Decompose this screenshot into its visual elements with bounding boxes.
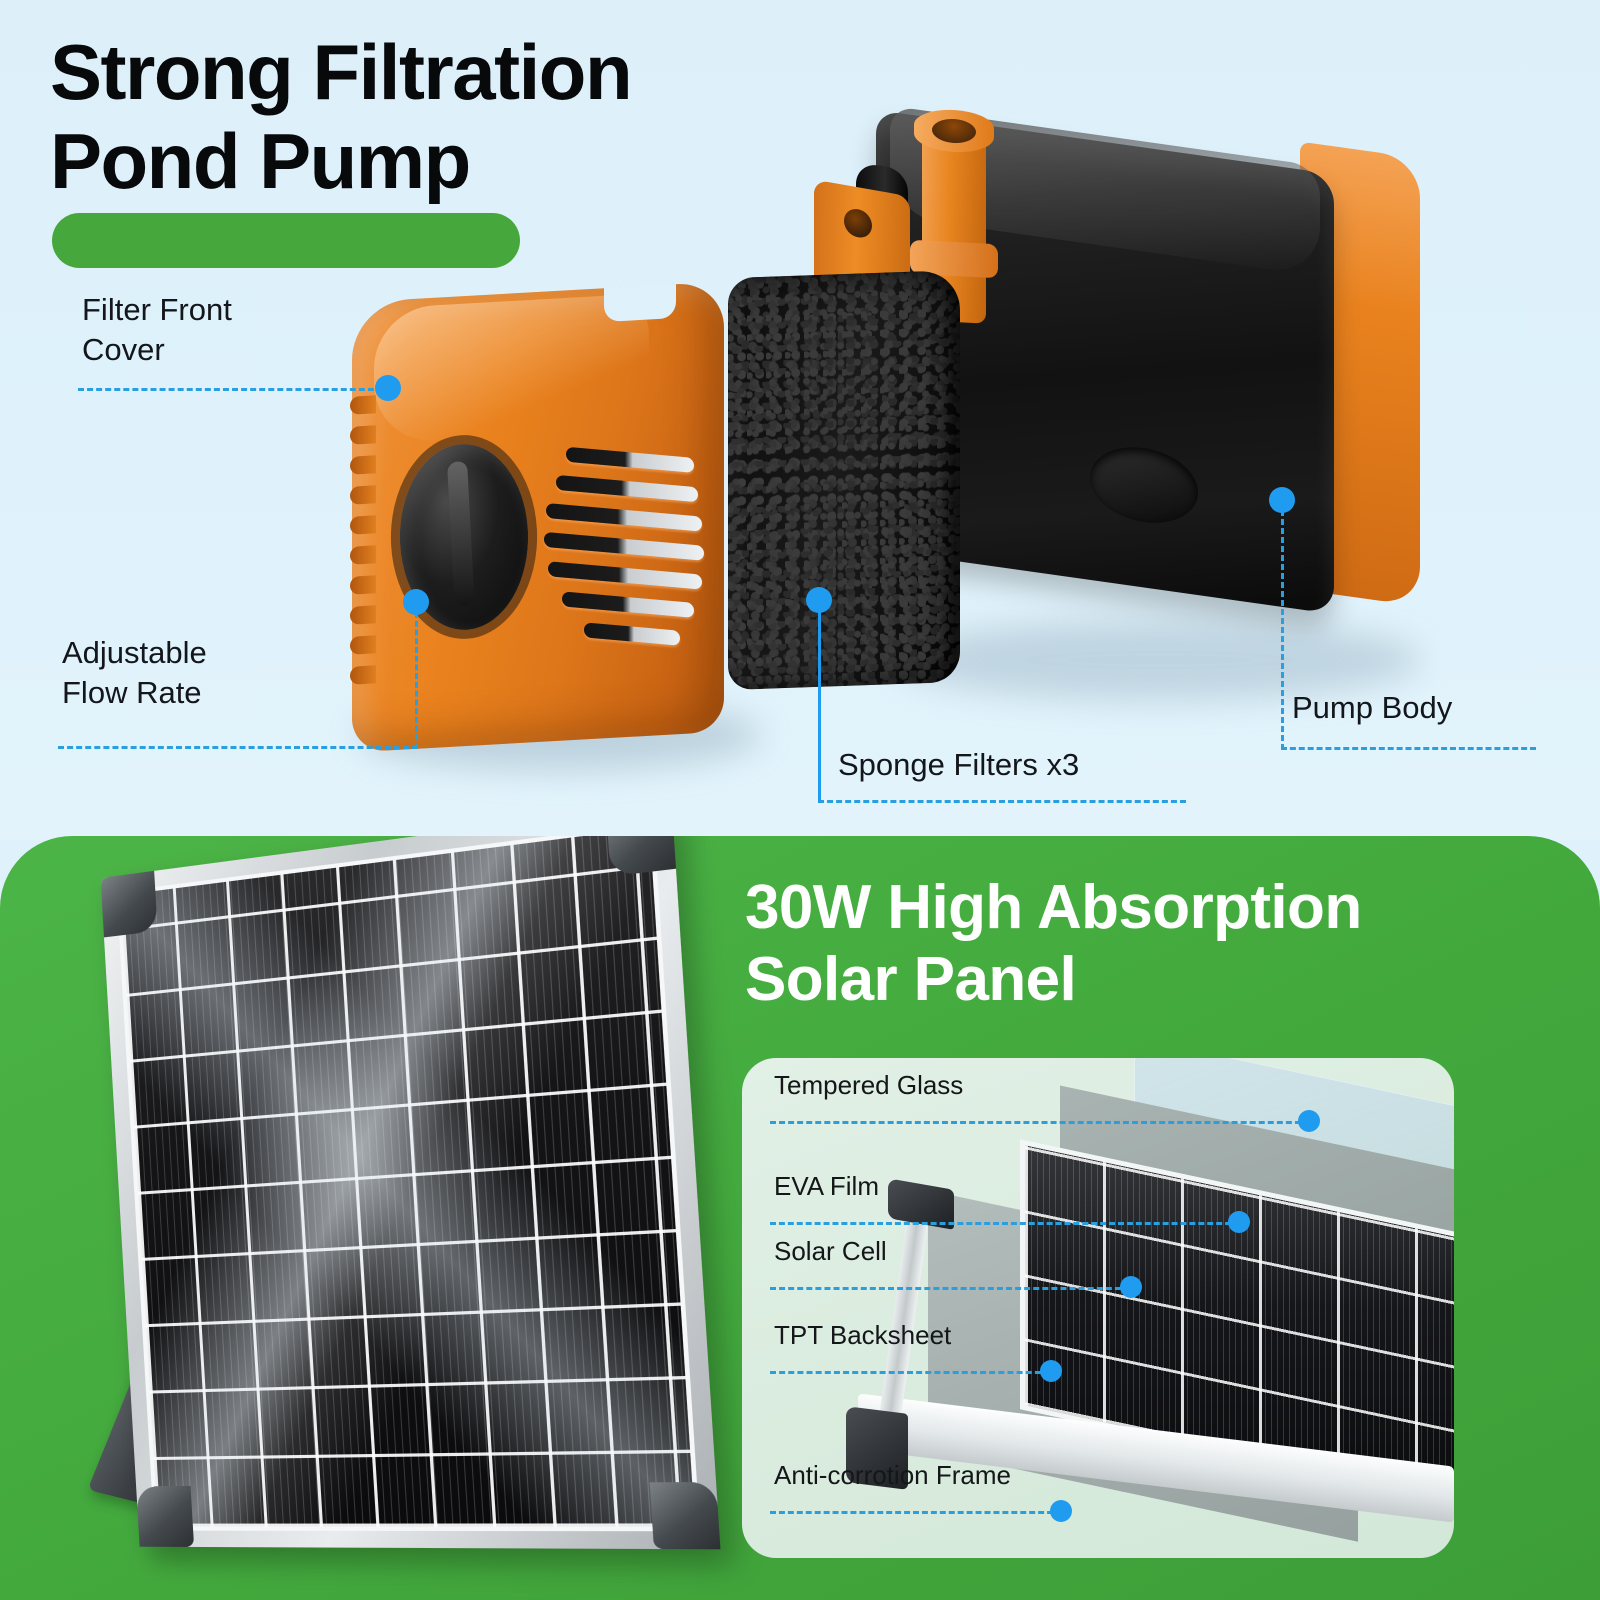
- dial-pointer: [447, 460, 475, 607]
- annotation-pump-body-line1: Pump Body: [1292, 690, 1452, 725]
- layer-label-eva-film: EVA Film: [774, 1171, 879, 1202]
- leader-line-adjustable-flow-rate-vertical: [415, 612, 418, 749]
- annotation-filter-front-cover-line2: Cover: [82, 330, 232, 370]
- annotation-sponge-filters: Sponge Filters x3: [838, 745, 1079, 785]
- leader-line-tempered-glass: [770, 1121, 1310, 1124]
- callout-dot-tempered-glass: [1298, 1110, 1320, 1132]
- solar-panel-glass: [117, 836, 700, 1531]
- callout-dot-sponge-filters: [806, 587, 832, 613]
- solar-panel: [101, 836, 721, 1549]
- panel-corner-bottom-left: [136, 1486, 194, 1547]
- leader-line-pump-body-vertical: [1281, 510, 1284, 750]
- solar-panel-feature-section: 30W High Absorption Solar Panel: [0, 836, 1600, 1600]
- layer-label-tpt-backsheet: TPT Backsheet: [774, 1320, 951, 1351]
- annotation-adjustable-flow-rate-line2: Flow Rate: [62, 673, 207, 713]
- annotation-sponge-filters-line1: Sponge Filters x3: [838, 747, 1079, 782]
- layer-label-anti-corrotion-frame: Anti-corrotion Frame: [774, 1460, 1011, 1491]
- panel-corner-top-left: [101, 871, 158, 938]
- filter-cover-notch: [604, 284, 676, 322]
- leader-line-solar-cell: [770, 1287, 1130, 1290]
- annotation-adjustable-flow-rate: Adjustable Flow Rate: [62, 633, 207, 712]
- panel-corner-bottom-right: [650, 1482, 721, 1549]
- layer-label-solar-cell: Solar Cell: [774, 1236, 887, 1267]
- annotation-filter-front-cover-line1: Filter Front: [82, 292, 232, 327]
- green-title-line-1: 30W High Absorption: [745, 872, 1585, 944]
- top-section-title: Strong Filtration Pond Pump: [50, 28, 810, 206]
- filter-cover-ribs: [350, 395, 376, 696]
- solar-panel-cell-grid: [121, 836, 695, 1527]
- callout-dot-adjustable-flow-rate: [403, 589, 429, 615]
- callout-dot-pump-body: [1269, 487, 1295, 513]
- sponge-filter-part: [728, 270, 960, 690]
- solar-panel-layer-diagram-card: Tempered Glass EVA Film Solar Cell TPT B…: [742, 1058, 1454, 1558]
- leader-line-adjustable-flow-rate-horizontal: [58, 746, 418, 749]
- solar-panel-frame: [101, 836, 721, 1549]
- callout-dot-tpt-backsheet: [1040, 1360, 1062, 1382]
- leader-line-anti-corrotion-frame: [770, 1511, 1062, 1514]
- pump-screw-hole-top: [844, 207, 872, 240]
- leader-line-sponge-filters-vertical: [818, 608, 821, 802]
- title-highlight-pill: [52, 213, 520, 268]
- leader-line-filter-front-cover: [78, 388, 383, 391]
- pond-pump-feature-section: Strong Filtration Pond Pump: [0, 0, 1600, 840]
- filter-cover-vents: [538, 444, 714, 715]
- callout-dot-filter-front-cover: [375, 375, 401, 401]
- annotation-filter-front-cover: Filter Front Cover: [82, 290, 232, 369]
- leader-line-sponge-filters-horizontal: [818, 800, 1186, 803]
- green-title-line-2: Solar Panel: [745, 944, 1585, 1016]
- title-line-2: Pond Pump: [50, 117, 810, 206]
- title-line-1: Strong Filtration: [50, 28, 810, 117]
- layer-label-tempered-glass: Tempered Glass: [774, 1070, 963, 1101]
- filter-front-cover-part: [352, 292, 724, 742]
- annotation-adjustable-flow-rate-line1: Adjustable: [62, 635, 207, 670]
- solar-panel-product-image: [110, 850, 710, 1570]
- leader-line-eva-film: [770, 1222, 1240, 1225]
- annotation-pump-body: Pump Body: [1292, 688, 1452, 728]
- callout-dot-eva-film: [1228, 1211, 1250, 1233]
- leader-line-tpt-backsheet: [770, 1371, 1050, 1374]
- callout-dot-anti-corrotion-frame: [1050, 1500, 1072, 1522]
- leader-line-pump-body-horizontal: [1281, 747, 1536, 750]
- callout-dot-solar-cell: [1120, 1276, 1142, 1298]
- bottom-section-title: 30W High Absorption Solar Panel: [745, 872, 1585, 1016]
